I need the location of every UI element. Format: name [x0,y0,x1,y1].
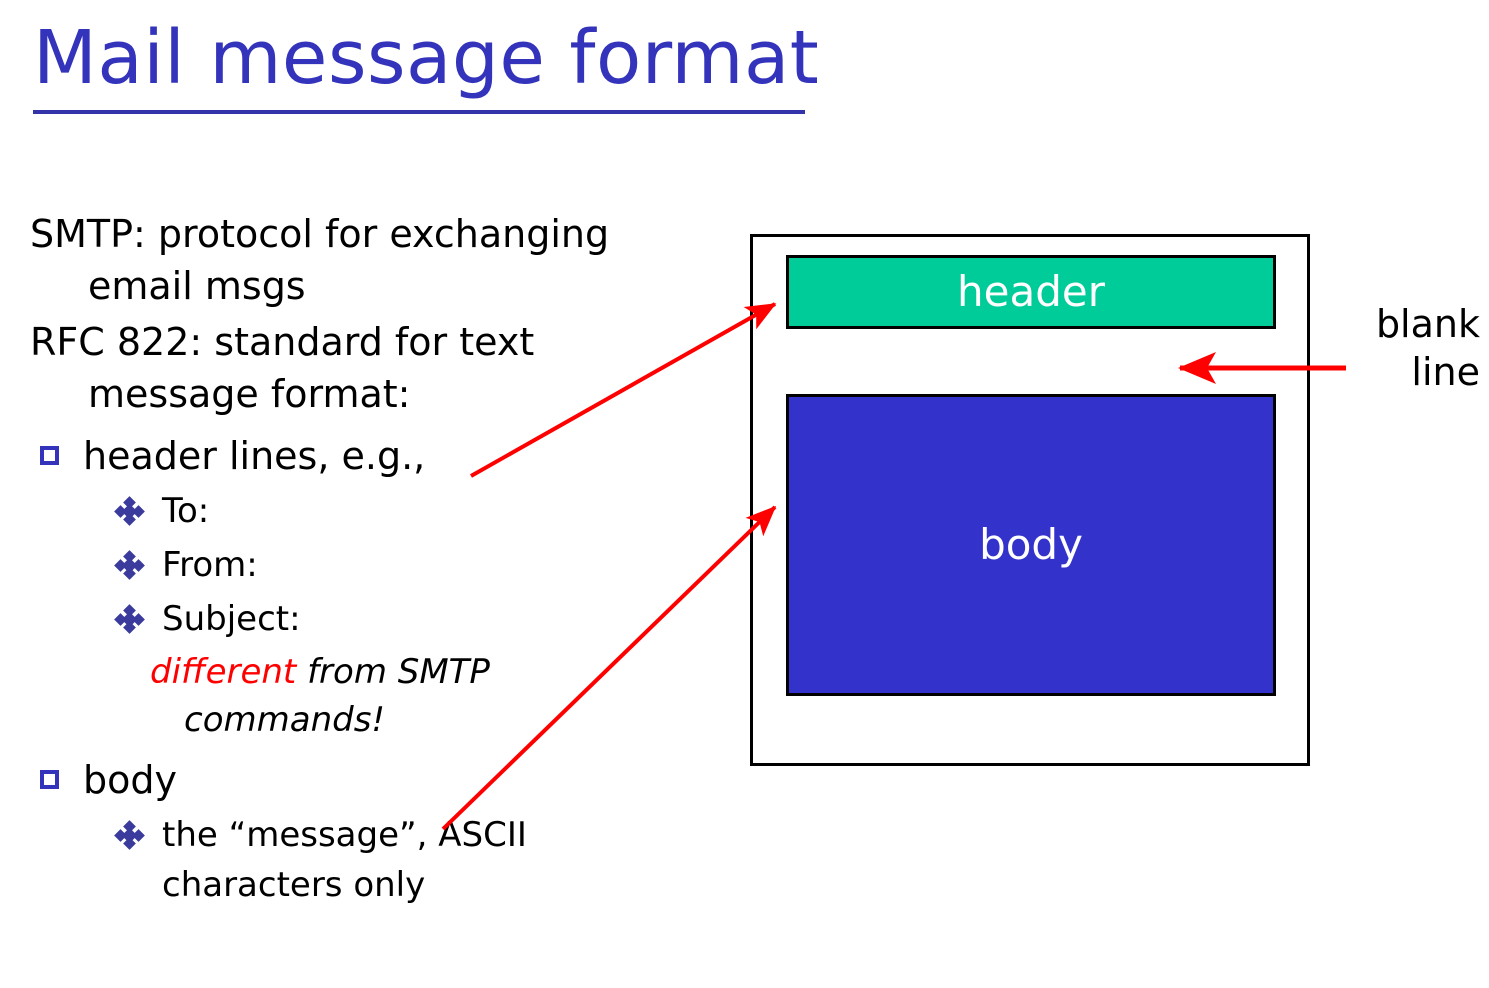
blank-line-label-line1: blank [1320,300,1480,348]
title-underline [33,110,805,114]
diamond-bullet-icon [116,606,142,632]
left-content-column: SMTP: protocol for exchanging email msgs… [30,208,670,910]
bullet-body: body [30,754,670,806]
sub-bullet-to-label: To: [162,486,670,536]
header-box: header [786,255,1276,329]
note-rest-line2: commands! [184,696,670,744]
diamond-bullet-icon [116,498,142,524]
sub-bullet-from-label: From: [162,540,670,590]
header-box-label: header [957,269,1105,315]
sub-bullet-message-ascii: the “message”, ASCII characters only [116,810,670,910]
bullet-header-lines: header lines, e.g., [30,430,670,482]
bullet-body-label: body [83,754,670,806]
body-box: body [786,394,1276,696]
bullet-header-lines-label: header lines, e.g., [83,430,670,482]
blank-line-label: blank line [1320,300,1480,396]
square-bullet-icon [40,446,59,465]
sub-bullet-to: To: [116,486,670,536]
title-block: Mail message format [33,18,853,98]
paragraph-smtp: SMTP: protocol for exchanging email msgs [30,208,670,312]
square-bullet-icon [40,770,59,789]
body-box-label: body [979,522,1083,568]
paragraph-rfc822: RFC 822: standard for text message forma… [30,316,670,420]
sub-bullet-from: From: [116,540,670,590]
sub-bullet-subject: Subject: [116,594,670,644]
note-rest-line1: from SMTP [296,652,490,692]
slide-canvas: Mail message format SMTP: protocol for e… [0,0,1489,988]
diamond-bullet-icon [116,552,142,578]
sub-bullet-message-ascii-label: the “message”, ASCII characters only [162,810,670,910]
sub-bullet-subject-label: Subject: [162,594,670,644]
page-title: Mail message format [33,18,853,98]
note-emphasis: different [150,652,296,692]
note-different-from-smtp: different from SMTPcommands! [150,648,670,744]
blank-line-label-line2: line [1320,348,1480,396]
diamond-bullet-icon [116,822,142,848]
